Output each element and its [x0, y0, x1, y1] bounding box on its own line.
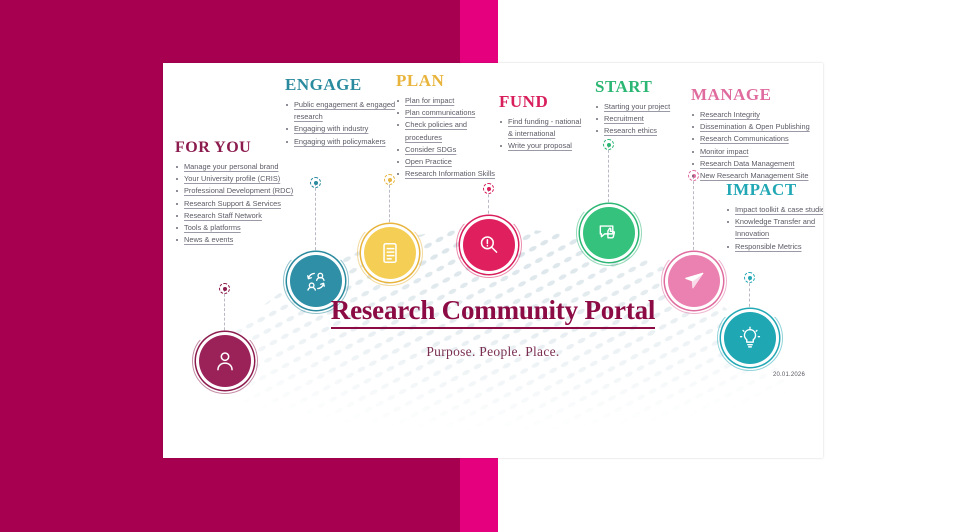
medallion-ring — [357, 220, 423, 286]
list-item[interactable]: Engaging with industry — [285, 123, 403, 135]
list-item[interactable]: Open Practice — [396, 156, 496, 168]
title-block: Research Community Portal Purpose. Peopl… — [163, 295, 823, 360]
section-list-impact: Impact toolkit & case studies Knowledge … — [726, 204, 823, 253]
icon-medallion-plan[interactable] — [364, 227, 416, 279]
stem-manage — [693, 176, 694, 255]
date-stamp: 20.01.2026 — [773, 372, 805, 378]
list-item[interactable]: Plan for impact — [396, 95, 496, 107]
list-item[interactable]: Starting your project — [595, 101, 705, 113]
list-item[interactable]: Impact toolkit & case studies — [726, 204, 823, 216]
section-list-fund: Find funding - national & international … — [499, 116, 585, 153]
node-dot-impact — [744, 272, 755, 283]
list-item[interactable]: Research Communications — [691, 133, 823, 145]
list-item[interactable]: Research ethics — [595, 125, 705, 137]
section-start: START Starting your project Recruitment … — [595, 77, 705, 138]
list-item[interactable]: Tools & platforms — [175, 222, 335, 234]
list-item[interactable]: Check policies and procedures — [396, 119, 496, 143]
medallion-ring — [576, 200, 642, 266]
section-list-for-you: Manage your personal brand Your Universi… — [175, 161, 335, 246]
list-item[interactable]: Research Support & Services — [175, 198, 335, 210]
section-heading-impact: IMPACT — [726, 180, 823, 200]
list-item[interactable]: Professional Development (RDC) — [175, 185, 335, 197]
list-item[interactable]: Research Staff Network — [175, 210, 335, 222]
slide-stage: FOR YOU Manage your personal brand Your … — [0, 0, 960, 532]
list-item[interactable]: Find funding - national & international — [499, 116, 585, 140]
list-item[interactable]: Knowledge Transfer and Innovation — [726, 216, 823, 240]
list-item[interactable]: Manage your personal brand — [175, 161, 335, 173]
section-impact: IMPACT Impact toolkit & case studies Kno… — [726, 180, 823, 253]
list-item[interactable]: Research Information Skills — [396, 168, 496, 180]
section-list-engage: Public engagement & engaged research Eng… — [285, 99, 403, 148]
medallion-ring — [456, 212, 522, 278]
node-dot-fund — [483, 183, 494, 194]
section-list-manage: Research Integrity Dissemination & Open … — [691, 109, 823, 182]
infographic-slide: FOR YOU Manage your personal brand Your … — [163, 63, 823, 458]
list-item[interactable]: Plan communications — [396, 107, 496, 119]
section-list-plan: Plan for impact Plan communications Chec… — [396, 95, 496, 180]
list-item[interactable]: Research Data Management — [691, 158, 823, 170]
section-for-you: FOR YOU Manage your personal brand Your … — [175, 139, 335, 246]
node-dot-start — [603, 139, 614, 150]
list-item[interactable]: Responsible Metrics — [726, 241, 823, 253]
section-heading-manage: MANAGE — [691, 85, 823, 105]
section-heading-start: START — [595, 77, 705, 97]
node-dot-plan — [384, 174, 395, 185]
node-dot-for-you — [219, 283, 230, 294]
list-item[interactable]: Dissemination & Open Publishing — [691, 121, 823, 133]
section-heading-engage: ENGAGE — [285, 75, 403, 95]
stem-start — [608, 145, 609, 207]
list-item[interactable]: Research Integrity — [691, 109, 823, 121]
section-heading-fund: FUND — [499, 92, 585, 112]
list-item[interactable]: News & events — [175, 234, 335, 246]
list-item[interactable]: Your University profile (CRIS) — [175, 173, 335, 185]
list-item[interactable]: Recruitment — [595, 113, 705, 125]
list-item[interactable]: Engaging with policymakers — [285, 136, 403, 148]
section-heading-plan: PLAN — [396, 71, 496, 91]
page-tagline: Purpose. People. Place. — [163, 344, 823, 360]
section-list-start: Starting your project Recruitment Resear… — [595, 101, 705, 138]
list-item[interactable]: Monitor impact — [691, 146, 823, 158]
list-item[interactable]: Public engagement & engaged research — [285, 99, 403, 123]
list-item[interactable]: Write your proposal — [499, 140, 585, 152]
section-fund: FUND Find funding - national & internati… — [499, 92, 585, 153]
icon-medallion-start[interactable] — [583, 207, 635, 259]
section-plan: PLAN Plan for impact Plan communications… — [396, 71, 496, 180]
icon-medallion-fund[interactable] — [463, 219, 515, 271]
list-item[interactable]: Consider SDGs — [396, 144, 496, 156]
section-engage: ENGAGE Public engagement & engaged resea… — [285, 75, 403, 148]
page-title: Research Community Portal — [331, 295, 655, 329]
stem-plan — [389, 180, 390, 227]
section-manage: MANAGE Research Integrity Dissemination … — [691, 85, 823, 182]
